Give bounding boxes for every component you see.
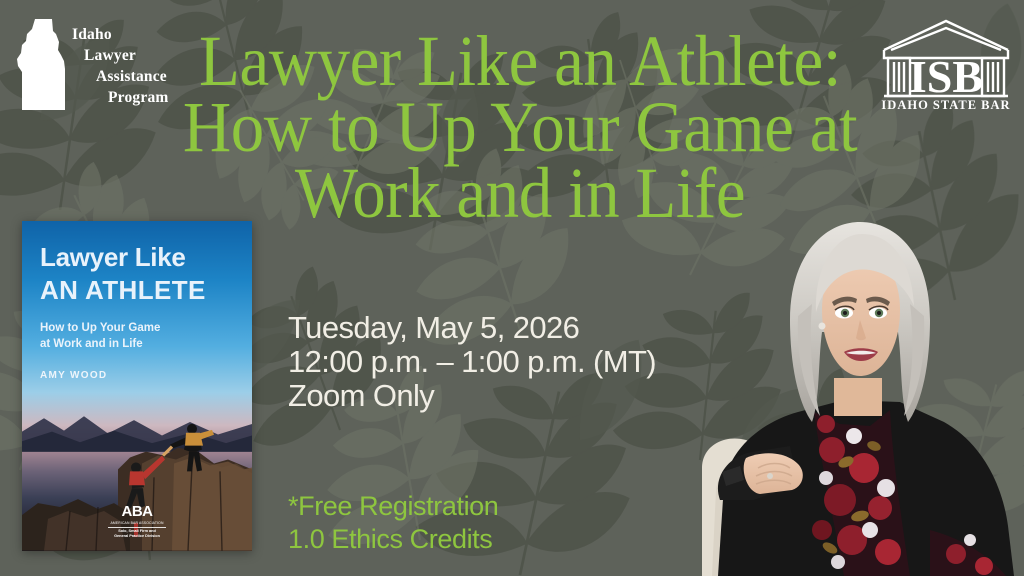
courthouse-pediment-icon: ISB IDAHO STATE BAR	[878, 16, 1014, 112]
ilap-line-3: Assistance	[72, 66, 169, 87]
page-title: Lawyer Like an Athlete: How to Up Your G…	[176, 28, 864, 227]
book-title-line-2: AN ATHLETE	[40, 276, 242, 304]
registration-info: *Free Registration 1.0 Ethics Credits	[288, 490, 498, 556]
isb-caption: IDAHO STATE BAR	[881, 98, 1010, 112]
idaho-state-outline-icon	[12, 17, 68, 113]
title-line-3: Work and in Life	[176, 160, 864, 226]
idaho-lawyer-assistance-program-logo: Idaho Lawyer Assistance Program	[12, 14, 202, 116]
book-subtitle-line-1: How to Up Your Game	[40, 320, 242, 336]
ilap-line-2: Lawyer	[72, 45, 169, 66]
ilap-line-4: Program	[72, 87, 169, 108]
event-time: 12:00 p.m. – 1:00 p.m. (MT)	[288, 345, 656, 379]
book-title-line-1: Lawyer Like	[40, 243, 242, 271]
ilap-line-1: Idaho	[72, 24, 169, 45]
idaho-state-bar-logo: ISB IDAHO STATE BAR	[878, 16, 1014, 112]
event-promo-graphic: Idaho Lawyer Assistance Program	[0, 0, 1024, 576]
neck	[834, 378, 882, 416]
ilap-wordmark: Idaho Lawyer Assistance Program	[72, 22, 169, 108]
earring	[819, 323, 826, 330]
isb-monogram: ISB	[909, 51, 983, 102]
event-date: Tuesday, May 5, 2026	[288, 311, 656, 345]
book-cover-text: Lawyer Like AN ATHLETE How to Up Your Ga…	[40, 243, 242, 381]
ethics-credits: 1.0 Ethics Credits	[288, 523, 498, 556]
aba-monogram: ABA	[92, 504, 182, 519]
ring	[767, 473, 773, 479]
book-subtitle-line-2: at Work and in Life	[40, 336, 242, 352]
title-line-2: How to Up Your Game at	[176, 94, 864, 160]
speaker-photo	[694, 200, 1024, 576]
title-line-1: Lawyer Like an Athlete:	[176, 28, 864, 94]
event-details: Tuesday, May 5, 2026 12:00 p.m. – 1:00 p…	[288, 311, 656, 413]
event-location: Zoom Only	[288, 379, 656, 413]
aba-full-name: AMERICAN BAR ASSOCIATION	[92, 521, 182, 525]
aba-division-line-2: General Practice Division	[92, 534, 182, 539]
aba-divider	[108, 527, 166, 528]
aba-publisher-logo: ABA AMERICAN BAR ASSOCIATION Solo, Small…	[92, 504, 182, 539]
book-cover: Lawyer Like AN ATHLETE How to Up Your Ga…	[22, 221, 252, 551]
book-author: AMY WOOD	[40, 370, 242, 381]
speaker-portrait-illustration	[694, 200, 1024, 576]
registration-note: *Free Registration	[288, 490, 498, 523]
